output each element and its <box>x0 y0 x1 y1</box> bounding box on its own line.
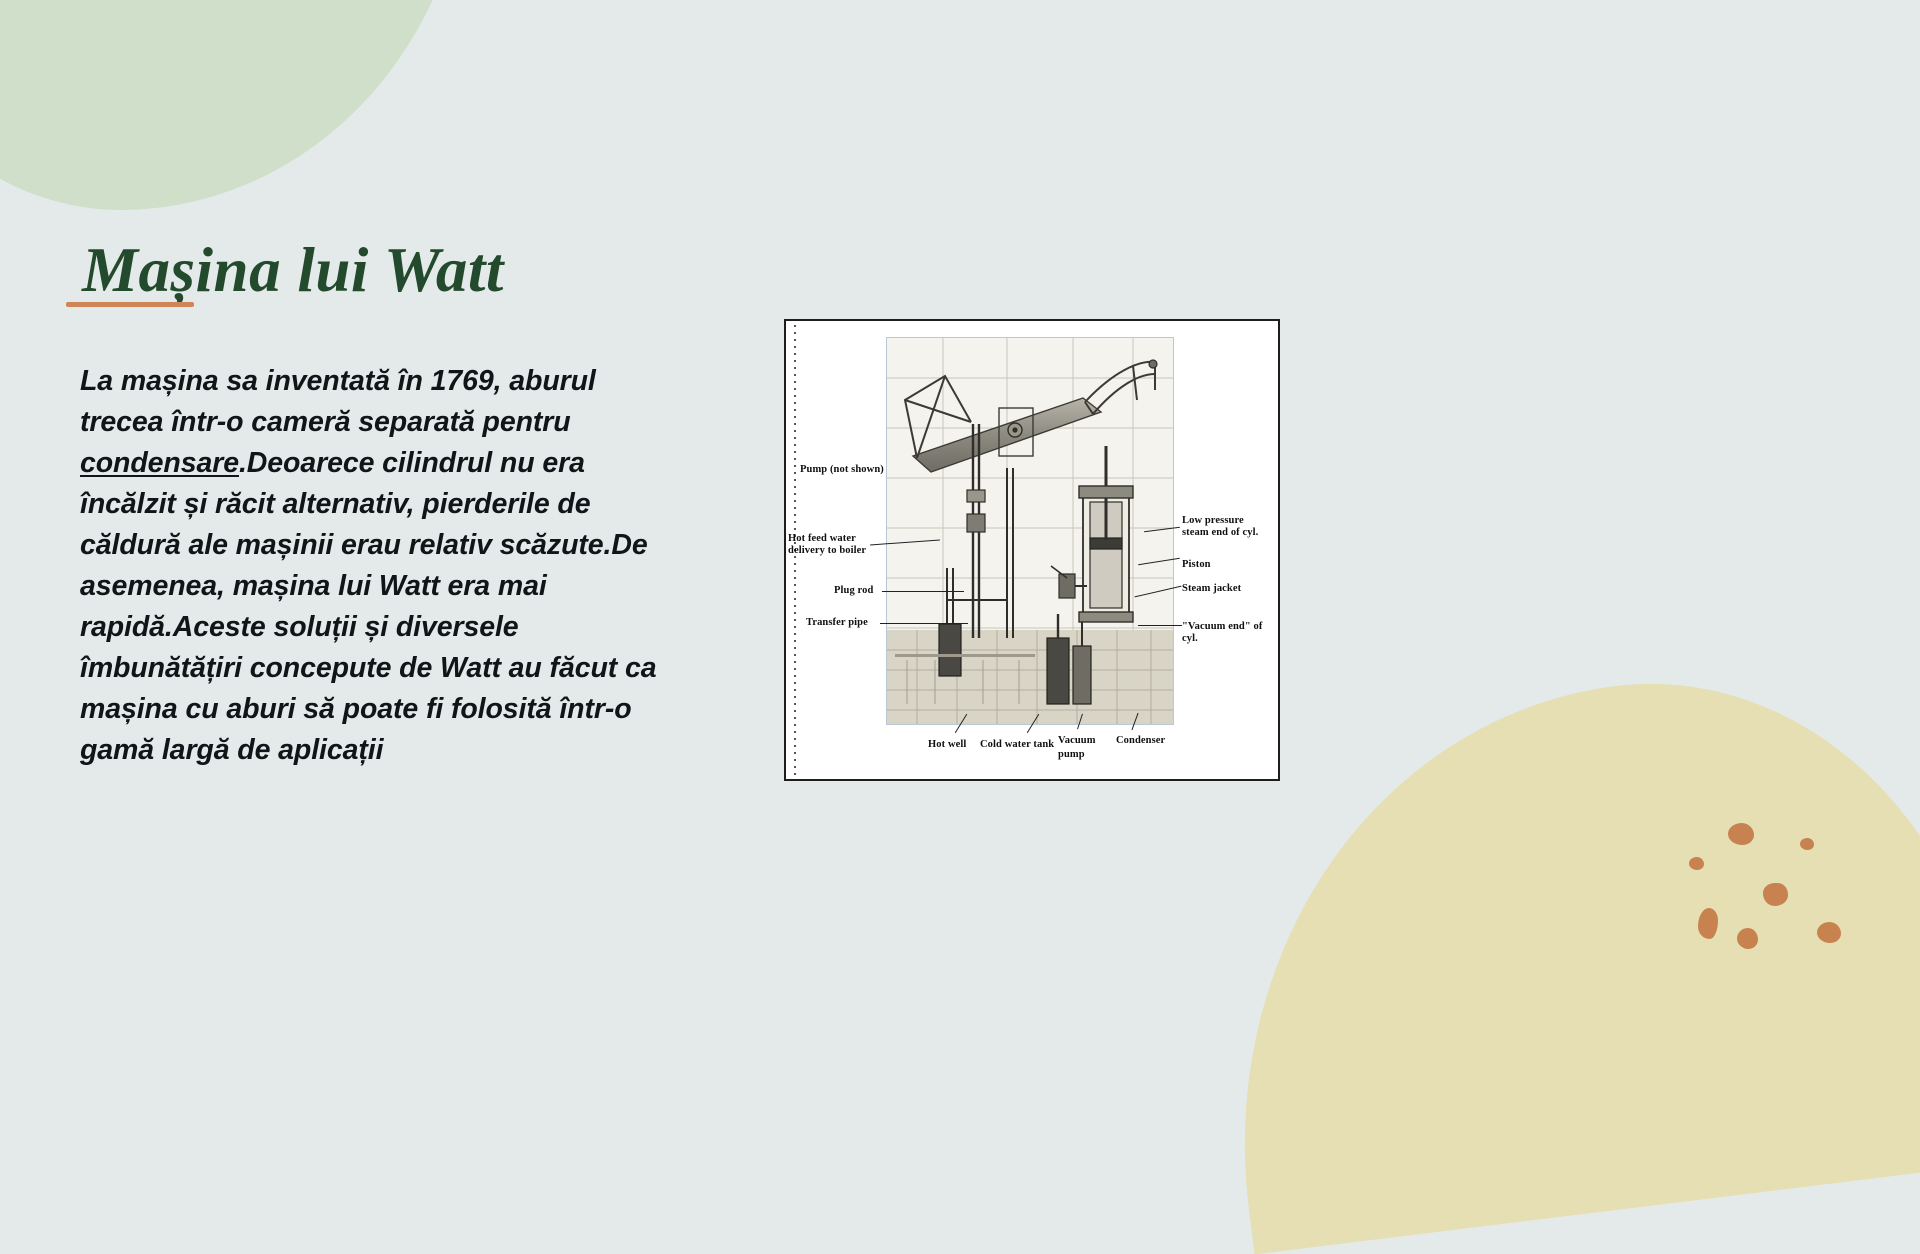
body-underlined-term: condensare <box>80 447 239 479</box>
body-lead-text: La mașina sa inventată în 1769, aburul t… <box>80 365 596 438</box>
figure-label-vacuum: Vacuum <box>1058 735 1096 748</box>
decorative-blob-green <box>0 0 470 210</box>
decorative-blob-tan <box>1191 646 1920 1254</box>
figure-label-condenser: Condenser <box>1116 735 1165 748</box>
leader-line-transfer-pipe <box>880 623 968 624</box>
leader-line-vacuum-end <box>1138 625 1182 626</box>
figure-label-cold-water-tank: Cold water tank <box>980 739 1054 752</box>
figure-label-hot-feed-water: Hot feed water <box>788 533 856 546</box>
figure-label-plug-rod: Plug rod <box>834 585 873 598</box>
figure-label-transfer-pipe: Transfer pipe <box>806 617 868 630</box>
engine-diagram-figure: Pump (not shown) Hot feed water delivery… <box>784 319 1280 781</box>
figure-label-vacuum-end-cyl: cyl. <box>1182 633 1198 646</box>
figure-label-steam-end-of-cyl: steam end of cyl. <box>1182 527 1258 540</box>
engine-line-art <box>887 338 1174 725</box>
watt-engine-engraving <box>886 337 1174 725</box>
leader-line-plug-rod <box>882 591 964 592</box>
figure-label-steam-jacket: Steam jacket <box>1182 583 1241 596</box>
figure-label-delivery-to-boiler: delivery to boiler <box>788 545 866 558</box>
figure-label-low-pressure: Low pressure <box>1182 515 1244 528</box>
figure-label-pump-bottom: pump <box>1058 749 1085 762</box>
title-divider-rule <box>66 302 194 307</box>
body-paragraph: La mașina sa inventată în 1769, aburul t… <box>80 361 680 771</box>
body-rest-text: .Deoarece cilindrul nu era încălzit și r… <box>80 447 656 766</box>
figure-label-hot-well: Hot well <box>928 739 966 752</box>
page-title: Mașina lui Watt <box>82 234 504 307</box>
figure-label-piston: Piston <box>1182 559 1211 572</box>
figure-label-pump: Pump (not shown) <box>800 464 884 477</box>
figure-label-vacuum-end: "Vacuum end" of <box>1182 621 1262 634</box>
